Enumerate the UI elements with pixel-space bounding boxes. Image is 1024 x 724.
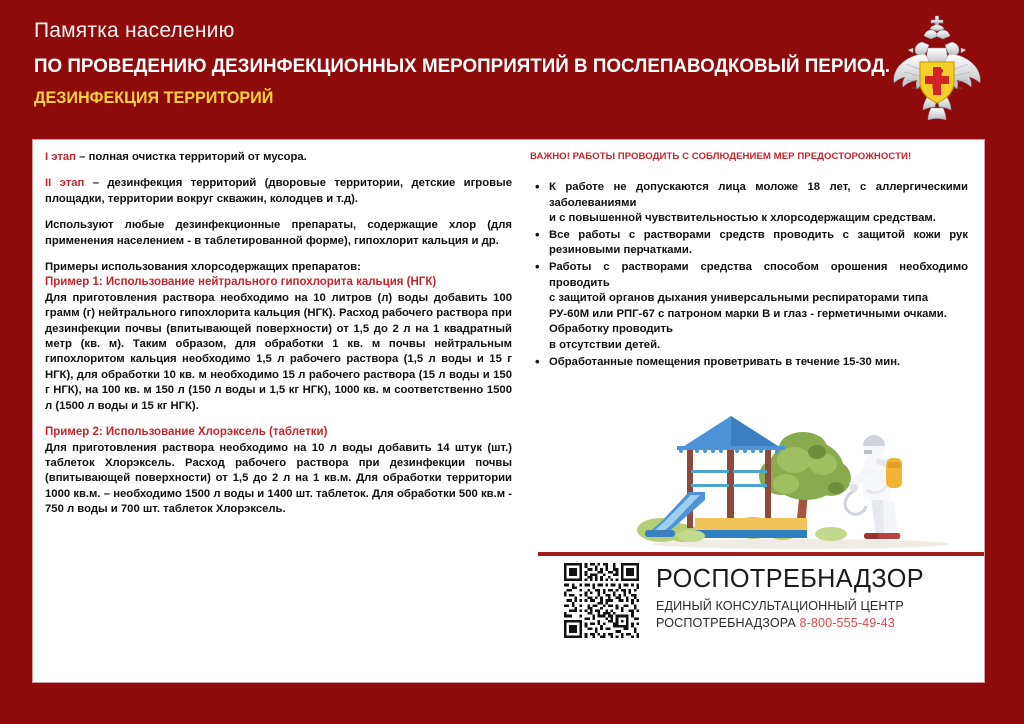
example-2-heading: Пример 2: Использование Хлорэксель (табл… bbox=[45, 425, 512, 440]
right-column: ВАЖНО! РАБОТЫ ПРОВОДИТЬ С СОБЛЮДЕНИЕМ МЕ… bbox=[530, 150, 968, 371]
rospotrebnadzor-coat-of-arms-icon bbox=[884, 12, 990, 124]
playhouse-posts-shape bbox=[687, 450, 771, 528]
playground-disinfection-worker-illustration bbox=[631, 402, 971, 552]
stage-2-paragraph: II этап – дезинфекция территорий (дворов… bbox=[45, 176, 512, 207]
bullet-main-text: К работе не допускаются лица моложе 18 л… bbox=[549, 181, 968, 209]
stage-2-text: – дезинфекция территорий (дворовые терри… bbox=[45, 177, 512, 204]
list-item: Все работы с растворами средств проводит… bbox=[530, 228, 968, 259]
footer-brand-block: РОСПОТРЕБНАДЗОР ЕДИНЫЙ КОНСУЛЬТАЦИОННЫЙ … bbox=[564, 563, 927, 638]
bullet-main-text: Все работы с растворами средств проводит… bbox=[549, 229, 968, 257]
content-card: I этап – полная очистка территорий от му… bbox=[33, 140, 984, 682]
playhouse-roof-shape bbox=[677, 416, 785, 453]
bullet-sub-text-2: в отсутствии детей. bbox=[549, 338, 968, 354]
list-item: Работы с растворами средства способом ор… bbox=[530, 260, 968, 354]
stage-2-tag: II этап bbox=[45, 177, 84, 189]
preparations-paragraph: Используют любые дезинфекционные препара… bbox=[45, 218, 512, 249]
safety-rules-list: К работе не допускаются лица моложе 18 л… bbox=[530, 180, 968, 370]
list-item: Обработанные помещения проветривать в те… bbox=[530, 355, 968, 371]
brand-name: РОСПОТРЕБНАДЗОР bbox=[656, 565, 924, 594]
bullet-sub-text: с защитой органов дыхания универсальными… bbox=[549, 291, 968, 338]
platform-shape bbox=[695, 518, 807, 532]
example-1-body: Для приготовления раствора необходимо на… bbox=[45, 291, 512, 414]
qr-code[interactable] bbox=[564, 563, 639, 638]
bullet-sub-text: и с повышенной чувствительностью к хлорс… bbox=[549, 211, 968, 227]
worker-figure-shape bbox=[845, 435, 902, 539]
stage-1-text: – полная очистка территорий от мусора. bbox=[76, 151, 307, 163]
important-notice-heading: ВАЖНО! РАБОТЫ ПРОВОДИТЬ С СОБЛЮДЕНИЕМ МЕ… bbox=[530, 150, 968, 164]
poster-header: Памятка населению ПО ПРОВЕДЕНИЮ ДЕЗИНФЕК… bbox=[0, 0, 1024, 126]
stage-1-paragraph: I этап – полная очистка территорий от му… bbox=[45, 150, 512, 165]
example-2-body: Для приготовления раствора необходимо на… bbox=[45, 441, 512, 518]
example-1-heading: Пример 1: Использование нейтрального гип… bbox=[45, 275, 512, 290]
consultation-center-line1: ЕДИНЫЙ КОНСУЛЬТАЦИОННЫЙ ЦЕНТР bbox=[656, 598, 927, 615]
bullet-main-text: Работы с растворами средства способом ор… bbox=[549, 261, 968, 289]
bullet-main-text: Обработанные помещения проветривать в те… bbox=[549, 356, 900, 368]
examples-intro: Примеры использования хлорсодержащих пре… bbox=[45, 260, 512, 275]
consultation-center-line2: РОСПОТРЕБНАДЗОРА 8-800-555-49-43 bbox=[656, 615, 927, 632]
consultation-center-label: РОСПОТРЕБНАДЗОРА bbox=[656, 616, 796, 630]
header-subtitle: Памятка населению bbox=[34, 18, 1024, 44]
page-title: ПО ПРОВЕДЕНИЮ ДЕЗИНФЕКЦИОННЫХ МЕРОПРИЯТИ… bbox=[34, 51, 989, 81]
brand-text-block: РОСПОТРЕБНАДЗОР ЕДИНЫЙ КОНСУЛЬТАЦИОННЫЙ … bbox=[656, 563, 927, 631]
footer-divider bbox=[538, 552, 984, 556]
list-item: К работе не допускаются лица моложе 18 л… bbox=[530, 180, 968, 227]
hotline-phone-number[interactable]: 8-800-555-49-43 bbox=[800, 616, 895, 630]
header-topic: ДЕЗИНФЕКЦИЯ ТЕРРИТОРИЙ bbox=[34, 85, 975, 111]
stage-1-tag: I этап bbox=[45, 151, 76, 163]
left-column: I этап – полная очистка территорий от му… bbox=[45, 150, 512, 529]
